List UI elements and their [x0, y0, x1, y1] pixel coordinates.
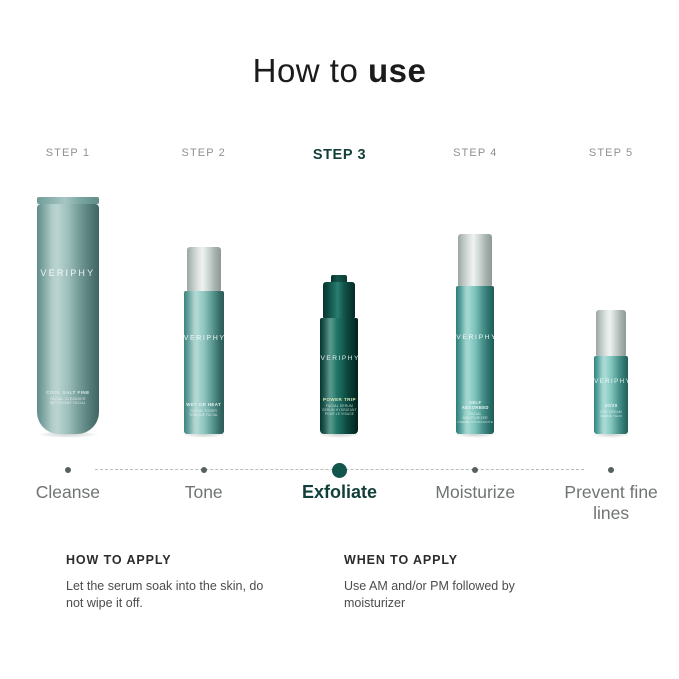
benefit-column-5[interactable]: Prevent fine lines: [543, 482, 679, 524]
step-label-5: STEP 5: [543, 147, 679, 159]
moisturizer-body: VERIPHY SELF ABSORBED FACIAL MOISTURIZER…: [456, 286, 494, 434]
title-bold: use: [368, 52, 426, 89]
moisturizer-cap: [458, 234, 492, 286]
toner-body: VERIPHY WET OR HEAT FACIAL TONER TONIQUE…: [184, 291, 224, 434]
benefit-label-5: Prevent fine lines: [547, 482, 675, 524]
tube-label-line1: COOL SALT FINE: [37, 390, 99, 395]
serum-label-line4: POUR LE VISAGE: [320, 412, 358, 416]
product-serum-bottle[interactable]: VERIPHY POWER TRIP FACIAL SERUM SERUM HY…: [320, 275, 358, 434]
product-cleanser-tube[interactable]: VERIPHY COOL SALT FINE FACIAL CLEANSER N…: [36, 197, 100, 434]
page-title: How to use: [0, 0, 679, 90]
note-when-to-apply-title: WHEN TO APPLY: [344, 553, 554, 567]
eye-cream-brand: VERIPHY: [594, 378, 628, 385]
step-column-5[interactable]: STEP 5: [543, 147, 679, 163]
title-light: How to: [253, 52, 368, 89]
instruction-notes: HOW TO APPLY Let the serum soak into the…: [66, 553, 626, 611]
toner-label: WET OR HEAT FACIAL TONER TONIQUE FACIAL: [184, 402, 224, 417]
product-moisturizer-bottle[interactable]: VERIPHY SELF ABSORBED FACIAL MOISTURIZER…: [456, 234, 494, 434]
product-toner-bottle[interactable]: VERIPHY WET OR HEAT FACIAL TONER TONIQUE…: [184, 247, 224, 434]
eye-cream-label-line3: CREME YEUX: [594, 414, 628, 418]
timeline-dot-5: [608, 467, 614, 473]
benefit-label-1: Cleanse: [4, 482, 132, 503]
tube-label: COOL SALT FINE FACIAL CLEANSER NETTOYANT…: [37, 390, 99, 405]
benefit-column-1[interactable]: Cleanse: [0, 482, 136, 524]
note-how-to-apply: HOW TO APPLY Let the serum soak into the…: [66, 553, 276, 611]
product-slot-2[interactable]: VERIPHY WET OR HEAT FACIAL TONER TONIQUE…: [136, 172, 272, 434]
step-column-1[interactable]: STEP 1: [0, 147, 136, 163]
timeline-dot-4: [472, 467, 478, 473]
serum-pump-nozzle: [331, 275, 347, 282]
eye-cream-body: VERIPHY 20/20 EYE CREAM CREME YEUX: [594, 356, 628, 434]
product-slot-4[interactable]: VERIPHY SELF ABSORBED FACIAL MOISTURIZER…: [407, 172, 543, 434]
step-column-3[interactable]: STEP 3: [272, 147, 408, 163]
note-when-to-apply-body: Use AM and/or PM followed by moisturizer: [344, 578, 554, 611]
timeline-node-1[interactable]: [0, 460, 136, 480]
product-lineup: VERIPHY COOL SALT FINE FACIAL CLEANSER N…: [0, 172, 679, 434]
toner-label-line1: WET OR HEAT: [184, 402, 224, 407]
moisturizer-brand: VERIPHY: [456, 334, 494, 341]
benefit-column-4[interactable]: Moisturize: [407, 482, 543, 524]
benefit-label-3: Exfoliate: [276, 482, 404, 503]
product-eye-cream-bottle[interactable]: VERIPHY 20/20 EYE CREAM CREME YEUX: [594, 310, 628, 434]
serum-label: POWER TRIP FACIAL SERUM SERUM HYDRATANT …: [320, 397, 358, 416]
tube-body: VERIPHY COOL SALT FINE FACIAL CLEANSER N…: [37, 204, 99, 434]
eye-cream-cap: [596, 310, 626, 356]
note-how-to-apply-body: Let the serum soak into the skin, do not…: [66, 578, 276, 611]
step-label-1: STEP 1: [0, 147, 136, 159]
step-label-4: STEP 4: [407, 147, 543, 159]
timeline-node-5[interactable]: [543, 460, 679, 480]
benefit-column-2[interactable]: Tone: [136, 482, 272, 524]
timeline-dot-2: [201, 467, 207, 473]
tube-label-line3: NETTOYANT FACIAL: [37, 401, 99, 405]
serum-brand: VERIPHY: [320, 355, 358, 362]
step-column-2[interactable]: STEP 2: [136, 147, 272, 163]
toner-label-line3: TONIQUE FACIAL: [184, 413, 224, 417]
benefit-label-2: Tone: [140, 482, 268, 503]
serum-cap: [323, 282, 355, 318]
note-how-to-apply-title: HOW TO APPLY: [66, 553, 276, 567]
note-when-to-apply: WHEN TO APPLY Use AM and/or PM followed …: [344, 553, 554, 611]
step-labels-row: STEP 1 STEP 2 STEP 3 STEP 4 STEP 5: [0, 147, 679, 163]
moisturizer-label: SELF ABSORBED FACIAL MOISTURIZER CREME H…: [456, 400, 494, 424]
benefit-label-4: Moisturize: [411, 482, 539, 503]
progress-timeline: [0, 460, 679, 480]
serum-label-line1: POWER TRIP: [320, 397, 358, 402]
eye-cream-label-line1: 20/20: [594, 403, 628, 408]
step-label-3: STEP 3: [272, 147, 408, 163]
toner-brand: VERIPHY: [184, 335, 224, 342]
moisturizer-label-line2: FACIAL MOISTURIZER: [456, 412, 494, 420]
step-label-2: STEP 2: [136, 147, 272, 159]
step-column-4[interactable]: STEP 4: [407, 147, 543, 163]
benefit-labels-row: Cleanse Tone Exfoliate Moisturize Preven…: [0, 482, 679, 524]
product-slot-5[interactable]: VERIPHY 20/20 EYE CREAM CREME YEUX: [543, 172, 679, 434]
timeline-node-4[interactable]: [407, 460, 543, 480]
serum-body: VERIPHY POWER TRIP FACIAL SERUM SERUM HY…: [320, 318, 358, 434]
toner-cap: [187, 247, 221, 291]
product-slot-1[interactable]: VERIPHY COOL SALT FINE FACIAL CLEANSER N…: [0, 172, 136, 434]
moisturizer-label-line3: CREME HYDRATANTE: [456, 420, 494, 424]
tube-crimp: [37, 197, 99, 204]
timeline-dot-3-active: [332, 463, 347, 478]
product-slot-3[interactable]: VERIPHY POWER TRIP FACIAL SERUM SERUM HY…: [272, 172, 408, 434]
tube-brand: VERIPHY: [37, 268, 99, 278]
timeline-node-3[interactable]: [272, 460, 408, 480]
timeline-dot-1: [65, 467, 71, 473]
timeline-node-2[interactable]: [136, 460, 272, 480]
eye-cream-label: 20/20 EYE CREAM CREME YEUX: [594, 403, 628, 418]
benefit-column-3[interactable]: Exfoliate: [272, 482, 408, 524]
moisturizer-label-line1: SELF ABSORBED: [456, 400, 494, 410]
